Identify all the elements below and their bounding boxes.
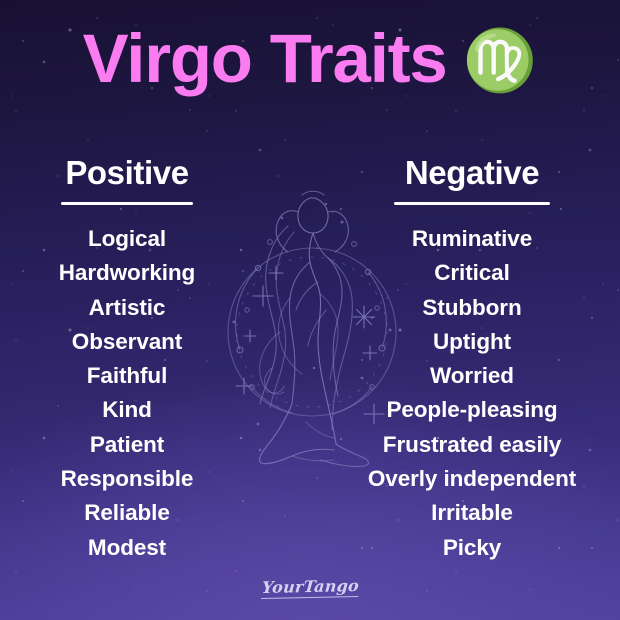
list-item: Ruminative: [347, 222, 597, 256]
positive-heading-wrap: Positive: [2, 154, 252, 205]
negative-trait-list: Ruminative Critical Stubborn Uptight Wor…: [347, 222, 597, 565]
list-item: Patient: [2, 428, 252, 462]
list-item: Faithful: [2, 359, 252, 393]
list-item: Artistic: [2, 291, 252, 325]
list-item: Modest: [2, 531, 252, 565]
list-item: Kind: [2, 393, 252, 427]
poster-title-row: Virgo Traits ♍: [0, 24, 620, 93]
list-item: Stubborn: [347, 291, 597, 325]
list-item: Uptight: [347, 325, 597, 359]
list-item: Overly independent: [347, 462, 597, 496]
positive-heading: Positive: [65, 154, 188, 199]
positive-heading-underline: [61, 202, 193, 205]
yourtango-logo: YourTango: [0, 578, 620, 598]
negative-heading: Negative: [405, 154, 539, 199]
list-item: Irritable: [347, 496, 597, 530]
positive-traits-column: Positive Logical Hardworking Artistic Ob…: [2, 154, 252, 565]
negative-traits-column: Negative Ruminative Critical Stubborn Up…: [347, 154, 597, 565]
list-item: Critical: [347, 256, 597, 290]
list-item: Logical: [2, 222, 252, 256]
positive-trait-list: Logical Hardworking Artistic Observant F…: [2, 222, 252, 565]
page-title: Virgo Traits: [83, 24, 447, 93]
list-item: Hardworking: [2, 256, 252, 290]
negative-heading-underline: [394, 202, 550, 205]
virgo-traits-poster: Virgo Traits ♍: [0, 0, 620, 620]
virgo-symbol-icon: ♍: [463, 31, 538, 91]
list-item: Worried: [347, 359, 597, 393]
list-item: Frustrated easily: [347, 428, 597, 462]
list-item: People-pleasing: [347, 393, 597, 427]
list-item: Reliable: [2, 496, 252, 530]
yourtango-logo-text: YourTango: [261, 577, 360, 599]
list-item: Observant: [2, 325, 252, 359]
list-item: Responsible: [2, 462, 252, 496]
list-item: Picky: [347, 531, 597, 565]
negative-heading-wrap: Negative: [347, 154, 597, 205]
